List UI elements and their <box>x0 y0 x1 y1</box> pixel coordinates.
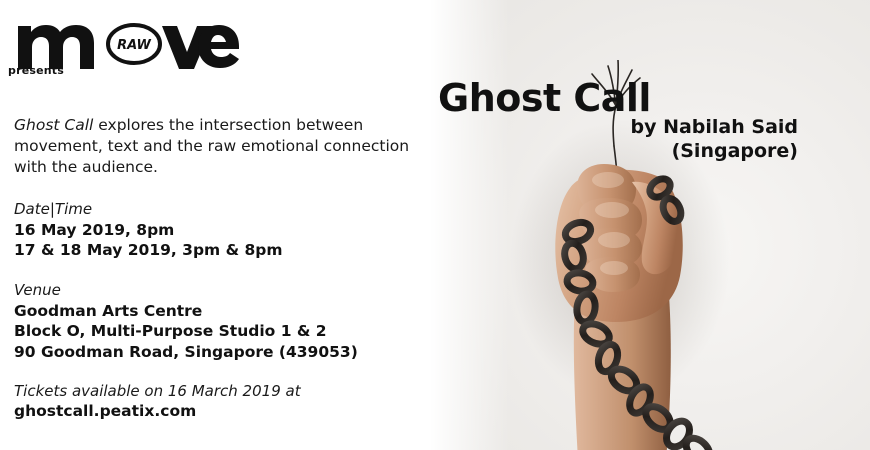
tickets-url[interactable]: ghostcall.peatix.com <box>14 402 414 420</box>
logo-raw-text: RAW <box>117 38 151 53</box>
venue-line-3: 90 Goodman Road, Singapore (439053) <box>14 342 414 362</box>
description-italic-lead: Ghost Call <box>14 116 93 134</box>
venue-label: Venue <box>14 281 414 299</box>
venue-block: Venue Goodman Arts Centre Block O, Multi… <box>14 281 414 362</box>
poster: RAW presents Ghost Call by Nabilah Said … <box>0 0 870 450</box>
poster-copy: Ghost Call explores the intersection bet… <box>14 115 414 420</box>
datetime-line-1: 16 May 2019, 8pm <box>14 220 414 240</box>
venue-line-2: Block O, Multi-Purpose Studio 1 & 2 <box>14 321 414 341</box>
byline-author: by Nabilah Said <box>630 116 798 140</box>
page-title: Ghost Call <box>438 76 651 120</box>
tickets-block: Tickets available on 16 March 2019 at gh… <box>14 382 414 420</box>
venue-line-1: Goodman Arts Centre <box>14 301 414 321</box>
byline: by Nabilah Said (Singapore) <box>630 116 798 164</box>
presents-label: presents <box>8 64 64 77</box>
datetime-line-2: 17 & 18 May 2019, 3pm & 8pm <box>14 240 414 260</box>
byline-country: (Singapore) <box>630 140 798 164</box>
description: Ghost Call explores the intersection bet… <box>14 115 414 178</box>
datetime-block: Date|Time 16 May 2019, 8pm 17 & 18 May 2… <box>14 200 414 261</box>
datetime-label: Date|Time <box>14 200 414 218</box>
tickets-label: Tickets available on 16 March 2019 at <box>14 382 414 400</box>
